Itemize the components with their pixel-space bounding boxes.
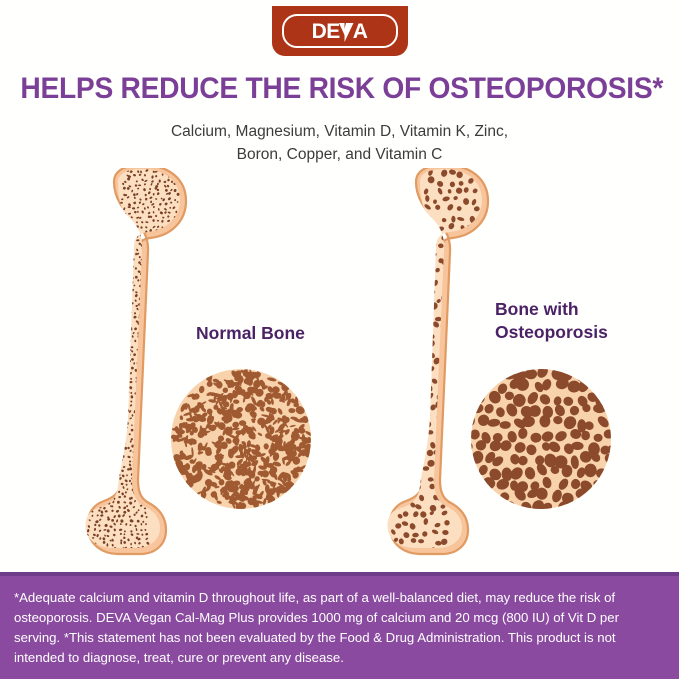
osteoporosis-label-line-2: Osteoporosis (495, 321, 608, 344)
osteoporosis-bone-label: Bone with Osteoporosis (495, 298, 608, 344)
osteoporosis-bone-magnified-detail (470, 368, 612, 510)
infographic-page: DEA HELPS REDUCE THE RISK OF OSTEOPOROSI… (0, 0, 679, 679)
logo-v-icon (339, 23, 354, 42)
ingredient-subtitle: Calcium, Magnesium, Vitamin D, Vitamin K… (0, 120, 679, 166)
logo-wordmark: DEA (312, 21, 368, 42)
osteoporosis-label-line-1: Bone with (495, 298, 608, 321)
disclaimer-banner: *Adequate calcium and vitamin D througho… (0, 572, 679, 679)
logo-badge: DEA (272, 6, 408, 56)
brand-logo: DEA (0, 6, 679, 58)
logo-text-a: A (353, 21, 368, 42)
logo-text-de: DE (312, 21, 340, 42)
logo-pill-outline: DEA (282, 14, 398, 48)
normal-bone-label-text: Normal Bone (196, 323, 305, 343)
bone-comparison-illustration: Normal Bone (0, 168, 679, 568)
normal-detail-svg (170, 368, 312, 510)
ingredient-line-1: Calcium, Magnesium, Vitamin D, Vitamin K… (0, 120, 679, 143)
normal-bone-label: Normal Bone (196, 322, 305, 345)
normal-bone-magnified-detail (170, 368, 312, 510)
page-title: HELPS REDUCE THE RISK OF OSTEOPOROSIS* (20, 72, 658, 106)
disclaimer-text: *Adequate calcium and vitamin D througho… (14, 588, 667, 668)
ingredient-line-2: Boron, Copper, and Vitamin C (0, 143, 679, 166)
osteoporosis-detail-svg (470, 368, 612, 510)
